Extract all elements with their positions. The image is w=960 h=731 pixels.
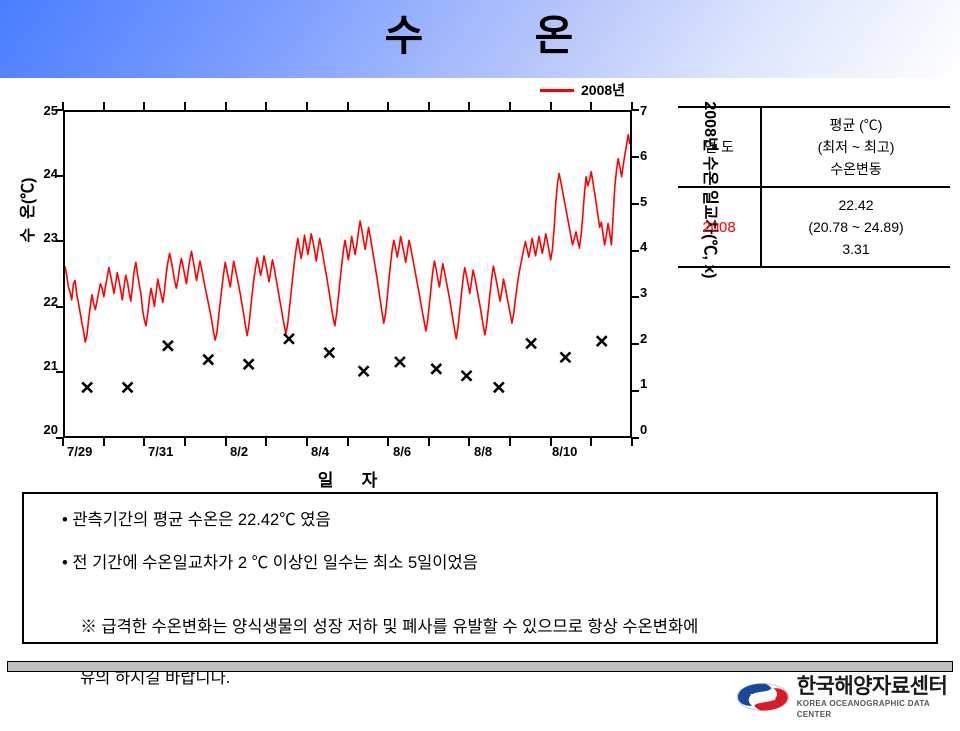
- xtick-mark-top-0: [62, 102, 64, 111]
- ytick-left-23: 23: [44, 230, 58, 245]
- xtick-mark-top-9: [428, 102, 430, 111]
- xtick-3: 8/4: [311, 444, 329, 459]
- daily-range-marker: [82, 382, 92, 392]
- ytick-left-24: 24: [44, 166, 58, 181]
- metric-variation: 3.31: [766, 238, 946, 260]
- xtick-mark-top-12: [550, 102, 552, 111]
- xtick-mark-7: [347, 437, 349, 446]
- xtick-mark-12: [550, 437, 552, 446]
- xtick-mark-top-14: [631, 102, 633, 111]
- header-metric-line-3: 수온변동: [766, 158, 946, 180]
- xtick-mark-top-6: [306, 102, 308, 111]
- metric-range: (20.78 ~ 24.89): [766, 216, 946, 238]
- daily-range-marker: [284, 334, 294, 344]
- xtick-mark-top-3: [184, 102, 186, 111]
- xtick-mark-top-1: [103, 102, 105, 111]
- daily-range-marker: [395, 357, 405, 367]
- daily-range-marker: [462, 371, 472, 381]
- x-axis-title: 일 자: [63, 466, 632, 491]
- note-line-1: • 관측기간의 평균 수온은 22.42℃ 였음: [62, 510, 910, 531]
- daily-range-marker: [359, 366, 369, 376]
- xtick-mark-13: [590, 437, 592, 446]
- xtick-mark-3: [184, 437, 186, 446]
- xtick-2: 8/2: [230, 444, 248, 459]
- header-cell-year: 연 도: [678, 107, 761, 187]
- ytick-mark-left-3: [56, 306, 64, 308]
- daily-range-markers: [82, 334, 606, 392]
- legend-label: 2008년: [581, 80, 625, 100]
- logo-name-korean: 한국해양자료센터: [797, 676, 960, 698]
- ytick-left-20: 20: [44, 422, 58, 437]
- daily-range-marker: [163, 341, 173, 351]
- xtick-mark-10: [468, 437, 470, 446]
- metric-mean: 22.42: [766, 194, 946, 216]
- ytick-right-1: 1: [640, 376, 647, 391]
- daily-range-marker: [526, 338, 536, 348]
- y-axis-left-title: 수 온(℃): [14, 140, 38, 280]
- chart-container: 2008년 25 24 23 22 21 20 7 6 5 4 3 2 1 0 …: [0, 78, 670, 478]
- xtick-mark-2: [143, 437, 145, 446]
- xtick-0: 7/29: [67, 444, 92, 459]
- header-cell-metrics: 평균 (℃) (최저 ~ 최고) 수온변동: [761, 107, 950, 187]
- xtick-mark-11: [509, 437, 511, 446]
- ytick-mark-left-1: [56, 175, 64, 177]
- daily-range-marker: [597, 336, 607, 346]
- ytick-mark-left-2: [56, 240, 64, 242]
- year-value: 2008: [702, 219, 735, 236]
- xtick-mark-top-11: [509, 102, 511, 111]
- ytick-mark-right-6: [631, 390, 639, 392]
- xtick-mark-top-2: [143, 102, 145, 111]
- xtick-mark-8: [387, 437, 389, 446]
- cell-metrics: 22.42 (20.78 ~ 24.89) 3.31: [761, 187, 950, 267]
- xtick-mark-4: [225, 437, 227, 446]
- ytick-mark-right-3: [631, 250, 639, 252]
- xtick-mark-5: [265, 437, 267, 446]
- ytick-right-5: 5: [640, 194, 647, 209]
- summary-table: 연 도 평균 (℃) (최저 ~ 최고) 수온변동 2008 22.42 (20…: [678, 106, 950, 268]
- xtick-1: 7/31: [148, 444, 173, 459]
- daily-range-marker: [431, 364, 441, 374]
- ytick-right-6: 6: [640, 148, 647, 163]
- ytick-right-0: 0: [640, 422, 647, 437]
- plot-svg: [65, 112, 630, 436]
- logo-text-wrap: 한국해양자료센터 KOREA OCEANOGRAPHIC DATA CENTER: [797, 676, 960, 720]
- daily-range-marker: [324, 348, 334, 358]
- chart-legend: 2008년: [540, 80, 625, 100]
- cell-year: 2008: [678, 187, 761, 267]
- ytick-mark-right-5: [631, 343, 639, 345]
- daily-range-marker: [494, 382, 504, 392]
- xtick-mark-14: [631, 437, 633, 446]
- xtick-4: 8/6: [393, 444, 411, 459]
- plot-frame: [63, 110, 632, 438]
- ytick-mark-left-4: [56, 371, 64, 373]
- daily-range-marker: [203, 355, 213, 365]
- table-row: 2008 22.42 (20.78 ~ 24.89) 3.31: [678, 187, 950, 267]
- note-line-2: • 전 기간에 수온일교차가 2 ℃ 이상인 일수는 최소 5일이었음: [62, 553, 910, 574]
- ytick-right-7: 7: [640, 103, 647, 118]
- kodc-logo-icon: KODC: [736, 681, 790, 715]
- ytick-mark-right-2: [631, 203, 639, 205]
- header-metric-line-2: (최저 ~ 최고): [766, 136, 946, 158]
- page-title: 수 온: [0, 10, 960, 62]
- xtick-mark-top-7: [347, 102, 349, 111]
- ytick-mark-right-1: [631, 156, 639, 158]
- footer-divider-bar: [7, 661, 953, 672]
- legend-line-swatch: [540, 89, 574, 92]
- temperature-line-series: [65, 135, 630, 342]
- xtick-mark-top-13: [590, 102, 592, 111]
- xtick-mark-9: [428, 437, 430, 446]
- daily-range-marker: [560, 352, 570, 362]
- svg-text:KODC: KODC: [749, 692, 776, 702]
- ytick-mark-right-4: [631, 296, 639, 298]
- xtick-mark-top-4: [225, 102, 227, 111]
- logo-name-english: KOREA OCEANOGRAPHIC DATA CENTER: [797, 698, 960, 720]
- notes-box: • 관측기간의 평균 수온은 22.42℃ 였음 • 전 기간에 수온일교차가 …: [22, 492, 938, 644]
- xtick-mark-top-8: [387, 102, 389, 111]
- header-metric-line-1: 평균 (℃): [766, 114, 946, 136]
- daily-range-marker: [123, 382, 133, 392]
- xtick-5: 8/8: [474, 444, 492, 459]
- footer-logo: KODC 한국해양자료센터 KOREA OCEANOGRAPHIC DATA C…: [736, 676, 960, 720]
- note-line-3-main: ※ 급격한 수온변화는 양식생물의 성장 저하 및 폐사를 유발할 수 있으므로…: [80, 618, 698, 636]
- xtick-mark-top-10: [468, 102, 470, 111]
- table-header-row: 연 도 평균 (℃) (최저 ~ 최고) 수온변동: [678, 107, 950, 187]
- xtick-mark-6: [306, 437, 308, 446]
- xtick-mark-0: [62, 437, 64, 446]
- xtick-mark-top-5: [265, 102, 267, 111]
- xtick-6: 8/10: [552, 444, 577, 459]
- ytick-right-3: 3: [640, 285, 647, 300]
- xtick-mark-1: [103, 437, 105, 446]
- temperature-polyline: [65, 135, 630, 342]
- daily-range-marker: [244, 359, 254, 369]
- ytick-right-2: 2: [640, 331, 647, 346]
- ytick-right-4: 4: [640, 239, 647, 254]
